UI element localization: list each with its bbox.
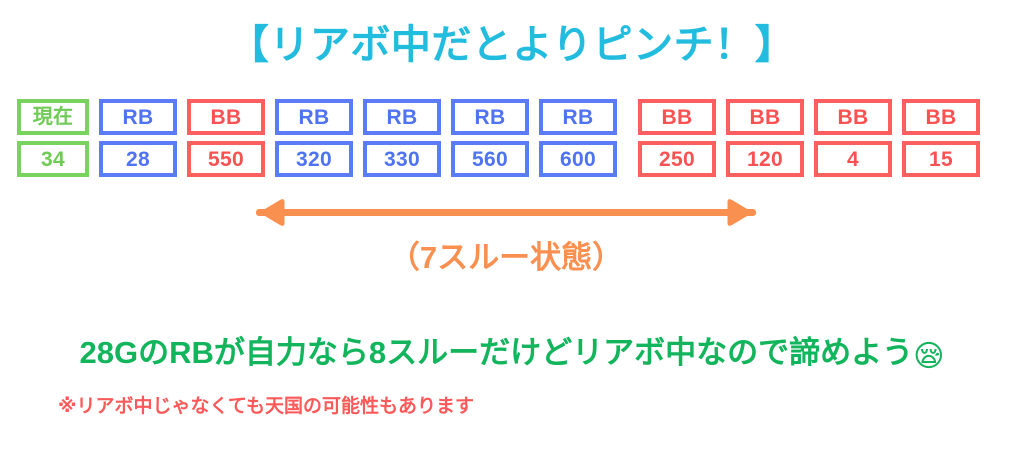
slot-label: 現在 <box>17 99 89 135</box>
slot-bb-1: BB 550 <box>187 99 265 177</box>
slot-bb-2: BB 250 <box>638 99 716 177</box>
slot-value: 15 <box>902 141 980 177</box>
page-title: 【リアボ中だとよりピンチ！】 <box>0 12 1024 70</box>
slot-rb-4: RB 560 <box>451 99 529 177</box>
slot-label: BB <box>902 99 980 135</box>
footnote-text: ※リアボ中じゃなくても天国の可能性もあります <box>58 391 474 418</box>
slot-value: 250 <box>638 141 716 177</box>
double-headed-arrow-icon <box>232 196 780 230</box>
slot-label: RB <box>363 99 441 135</box>
slot-value: 120 <box>726 141 804 177</box>
slot-rb-2: RB 320 <box>275 99 353 177</box>
slot-bb-4: BB 4 <box>814 99 892 177</box>
slot-value: 34 <box>17 141 89 177</box>
slot-value: 600 <box>539 141 617 177</box>
arrow-caption: （7スルー状態） <box>232 232 780 277</box>
slot-value: 28 <box>99 141 177 177</box>
slot-label: RB <box>275 99 353 135</box>
conclusion-body: 28GのRBが自力なら8スルーだけどリアボ中なので諦めよう <box>80 335 914 370</box>
slot-value: 4 <box>814 141 892 177</box>
slot-label: BB <box>726 99 804 135</box>
conclusion-text: 28GのRBが自力なら8スルーだけどリアボ中なので諦めよう😪 <box>0 327 1024 374</box>
slot-strip: 現在 34 RB 28 BB 550 RB 320 RB 330 RB 560 … <box>17 99 980 177</box>
slot-value: 550 <box>187 141 265 177</box>
sleepy-face-emoji-icon: 😪 <box>913 340 944 373</box>
slot-rb-1: RB 28 <box>99 99 177 177</box>
slot-value: 320 <box>275 141 353 177</box>
infographic-canvas: 【リアボ中だとよりピンチ！】 現在 34 RB 28 BB 550 RB 320… <box>0 0 1024 471</box>
slot-current: 現在 34 <box>17 99 89 177</box>
slot-rb-3: RB 330 <box>363 99 441 177</box>
slot-bb-3: BB 120 <box>726 99 804 177</box>
slot-label: RB <box>539 99 617 135</box>
slot-rb-5: RB 600 <box>539 99 617 177</box>
slot-label: RB <box>99 99 177 135</box>
slot-label: BB <box>638 99 716 135</box>
slot-label: RB <box>451 99 529 135</box>
slot-value: 560 <box>451 141 529 177</box>
slot-value: 330 <box>363 141 441 177</box>
slot-label: BB <box>814 99 892 135</box>
slot-bb-5: BB 15 <box>902 99 980 177</box>
slot-label: BB <box>187 99 265 135</box>
